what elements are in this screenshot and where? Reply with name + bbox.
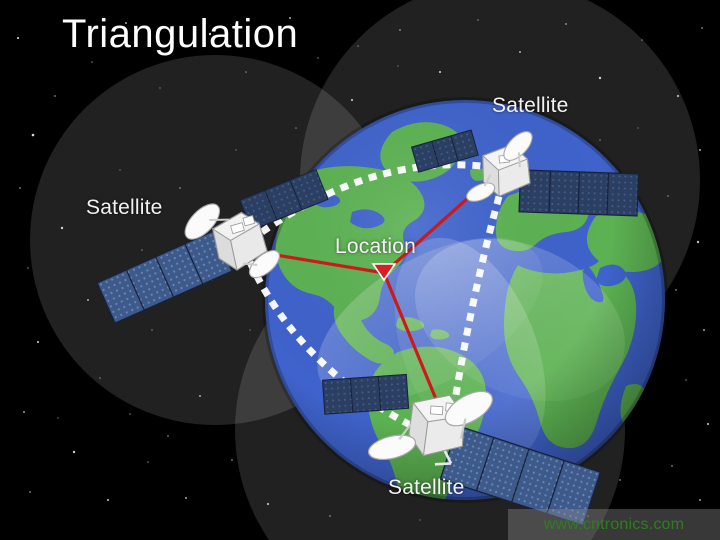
location-marker-layer: [0, 0, 720, 540]
watermark: www.cntronics.com: [508, 509, 720, 540]
watermark-text: www.cntronics.com: [544, 516, 684, 534]
triangulation-diagram: Triangulation Satellite Satellite Satell…: [0, 0, 720, 540]
location-marker[interactable]: [373, 264, 395, 280]
